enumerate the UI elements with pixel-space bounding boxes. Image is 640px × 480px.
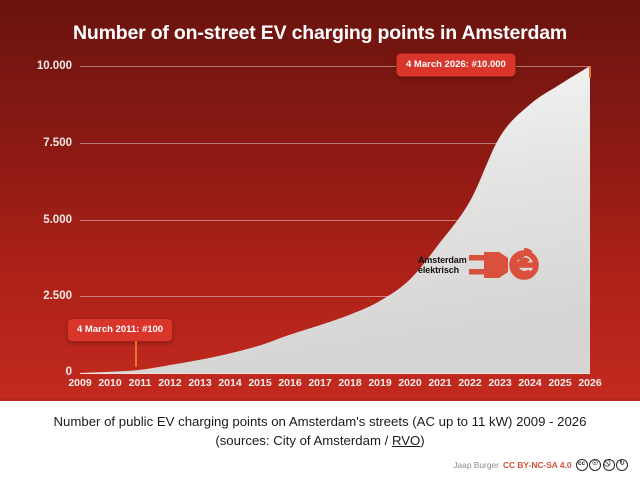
panel-bottom-edge bbox=[0, 398, 640, 401]
plug-e-icon bbox=[469, 248, 541, 282]
caption-line-1: Number of public EV charging points on A… bbox=[0, 412, 640, 431]
y-axis-label-2500: 2.500 bbox=[6, 290, 72, 302]
cc-sa-icon: ↻ bbox=[616, 459, 628, 471]
annotation-marker-2011 bbox=[135, 341, 137, 367]
page-title: Number of on-street EV charging points i… bbox=[0, 22, 640, 45]
logo-line-1: Amsterdam bbox=[418, 255, 467, 265]
x-axis-line bbox=[80, 373, 590, 374]
caption-sources-suffix: ) bbox=[420, 433, 424, 448]
rvo-link[interactable]: RVO bbox=[392, 433, 420, 448]
logo-line-2: elektrisch bbox=[418, 265, 467, 275]
y-axis-label-7500: 7.500 bbox=[6, 137, 72, 149]
chart-panel: Number of on-street EV charging points i… bbox=[0, 0, 640, 401]
chart-page: Number of on-street EV charging points i… bbox=[0, 0, 640, 480]
annotation-start-2011: 4 March 2011: #100 bbox=[67, 318, 173, 342]
caption: Number of public EV charging points on A… bbox=[0, 412, 640, 450]
caption-line-2: (sources: City of Amsterdam / RVO) bbox=[0, 431, 640, 450]
logo-wordmark: Amsterdam elektrisch bbox=[418, 255, 467, 276]
caption-sources-prefix: (sources: City of Amsterdam / bbox=[215, 433, 392, 448]
credit-author: Jaap Burger bbox=[453, 460, 499, 470]
annotation-end-2026: 4 March 2026: #10.000 bbox=[396, 53, 516, 77]
creative-commons-icons: cc ☉ ⃠ ↻ bbox=[576, 459, 629, 471]
cc-icon: cc bbox=[576, 459, 588, 471]
credit-license[interactable]: CC BY-NC-SA 4.0 bbox=[503, 460, 572, 470]
annotation-marker-2026 bbox=[589, 66, 591, 78]
cc-nc-icon: ⃠ bbox=[603, 459, 615, 471]
y-axis-label-5000: 5.000 bbox=[6, 214, 72, 226]
amsterdam-elektrisch-logo: Amsterdam elektrisch bbox=[418, 248, 541, 282]
credit-line: Jaap Burger CC BY-NC-SA 4.0 cc ☉ ⃠ ↻ bbox=[453, 459, 628, 471]
x-axis-tick-2026: 2026 bbox=[570, 377, 610, 389]
y-axis-label-10000: 10.000 bbox=[6, 60, 72, 72]
cc-by-icon: ☉ bbox=[589, 459, 601, 471]
